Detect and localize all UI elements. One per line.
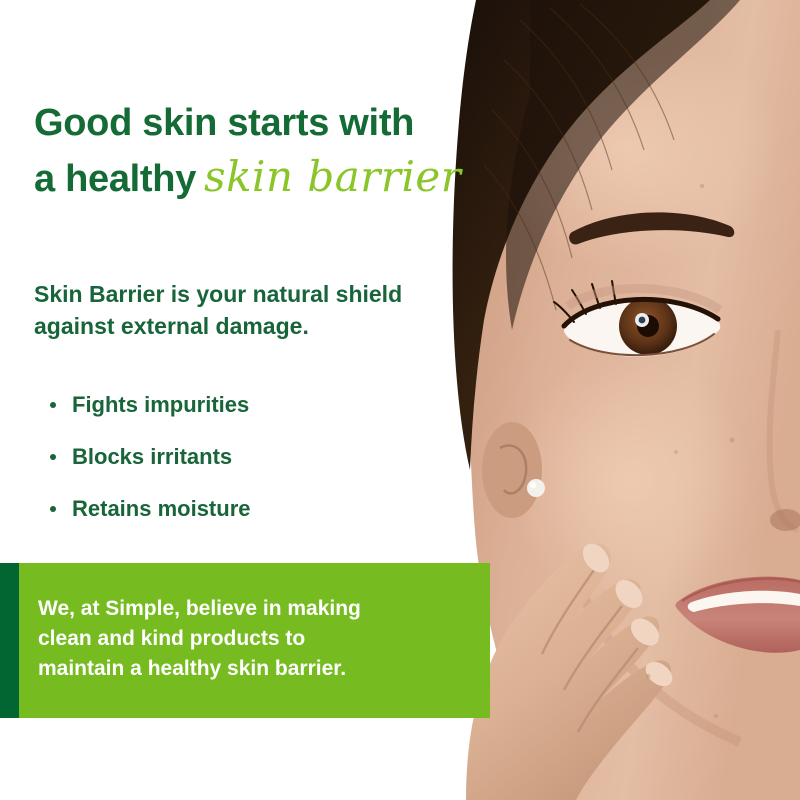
benefits-list: Fights impurities Blocks irritants Retai… [46,392,466,548]
banner-accent-stripe [0,563,19,718]
bullet-dot-icon [50,402,56,408]
list-item: Fights impurities [46,392,466,418]
banner-line-2: clean and kind products to [38,624,458,654]
headline-line-2: a healthyskin barrier [34,150,504,206]
cheek-highlight [510,350,750,610]
earring-pearl [527,479,545,497]
headline-plain-text: a healthy [34,158,196,200]
banner-text: We, at Simple, believe in making clean a… [38,594,458,684]
headline-script-text: skin barrier [196,152,461,201]
headline-line-1: Good skin starts with [34,96,504,150]
bullet-dot-icon [50,454,56,460]
subhead-text: Skin Barrier is your natural shield agai… [34,278,484,342]
earring-highlight [530,482,536,488]
bullet-label: Blocks irritants [72,444,232,469]
ear-shape [482,422,542,518]
bullet-label: Retains moisture [72,496,251,521]
banner-line-3: maintain a healthy skin barrier. [38,654,458,684]
marketing-graphic: Good skin starts with a healthyskin barr… [0,0,800,800]
headline: Good skin starts with a healthyskin barr… [34,96,504,206]
list-item: Retains moisture [46,496,466,522]
bullet-dot-icon [50,506,56,512]
list-item: Blocks irritants [46,444,466,470]
bullet-label: Fights impurities [72,392,249,417]
banner-line-1: We, at Simple, believe in making [38,594,458,624]
